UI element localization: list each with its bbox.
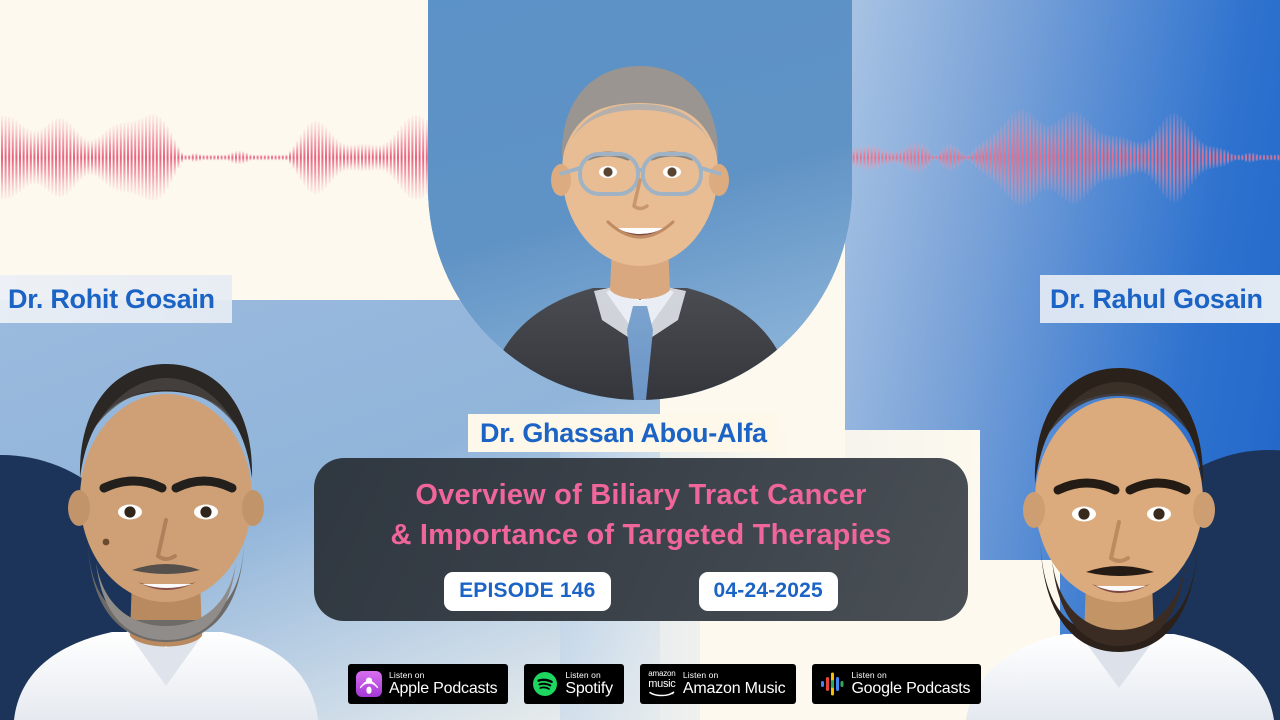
podcast-episode-thumbnail: Dr. Rohit Gosain Dr. Rahul Gosain Dr. Gh… xyxy=(0,0,1280,720)
amazon-wordmark-top: amazon xyxy=(648,670,675,678)
episode-title-line-2: & Importance of Targeted Therapies xyxy=(314,515,968,555)
host-left-name-text: Dr. Rohit Gosain xyxy=(8,284,215,315)
apple-badge-big-text: Apple Podcasts xyxy=(389,680,497,698)
host-left-name-label: Dr. Rohit Gosain xyxy=(0,275,232,323)
google-podcasts-badge-text: Listen on Google Podcasts xyxy=(851,670,970,698)
host-portrait-right xyxy=(960,330,1280,720)
listen-on-apple-podcasts-button[interactable]: Listen on Apple Podcasts xyxy=(348,664,508,704)
episode-meta-row: EPISODE 146 04-24-2025 xyxy=(314,572,968,611)
guest-name-text: Dr. Ghassan Abou-Alfa xyxy=(480,418,767,449)
apple-badge-small-text: Listen on xyxy=(389,670,497,680)
podcast-platform-badges: Listen on Apple Podcasts Listen on Spoti… xyxy=(348,664,981,704)
apple-podcasts-icon xyxy=(356,671,382,697)
listen-on-amazon-music-button[interactable]: amazon music Listen on Amazon Music xyxy=(640,664,797,704)
amazon-music-icon: amazon music xyxy=(648,670,676,698)
audio-waveform-left xyxy=(0,95,432,220)
google-podcasts-icon xyxy=(820,671,844,697)
episode-title-panel: Overview of Biliary Tract Cancer & Impor… xyxy=(314,458,968,621)
audio-waveform-right xyxy=(848,95,1280,220)
episode-number-badge: EPISODE 146 xyxy=(444,572,610,611)
episode-date-badge: 04-24-2025 xyxy=(699,572,838,611)
host-right-name-text: Dr. Rahul Gosain xyxy=(1050,284,1263,315)
apple-podcasts-badge-text: Listen on Apple Podcasts xyxy=(389,670,497,698)
spotify-badge-small-text: Listen on xyxy=(565,670,613,680)
spotify-icon xyxy=(532,671,558,697)
amazon-music-badge-text: Listen on Amazon Music xyxy=(683,670,786,698)
amazon-smile-icon xyxy=(648,690,676,698)
google-badge-big-text: Google Podcasts xyxy=(851,680,970,698)
amazon-badge-big-text: Amazon Music xyxy=(683,680,786,698)
amazon-badge-small-text: Listen on xyxy=(683,670,786,680)
listen-on-spotify-button[interactable]: Listen on Spotify xyxy=(524,664,624,704)
spotify-badge-big-text: Spotify xyxy=(565,680,613,698)
amazon-wordmark-bottom: music xyxy=(648,679,675,690)
host-portrait-left xyxy=(0,330,330,720)
google-badge-small-text: Listen on xyxy=(851,670,970,680)
host-right-name-label: Dr. Rahul Gosain xyxy=(1040,275,1280,323)
listen-on-google-podcasts-button[interactable]: Listen on Google Podcasts xyxy=(812,664,981,704)
guest-name-label: Dr. Ghassan Abou-Alfa xyxy=(468,414,779,452)
episode-title-line-1: Overview of Biliary Tract Cancer xyxy=(314,475,968,515)
spotify-badge-text: Listen on Spotify xyxy=(565,670,613,698)
